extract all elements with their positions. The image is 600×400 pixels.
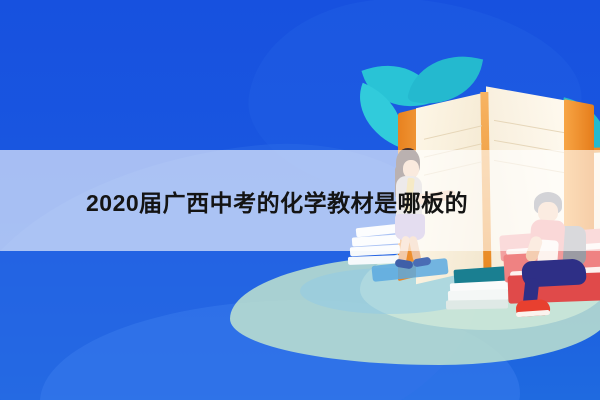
- page-canvas: 2020届广西中考的化学教材是哪板的: [0, 0, 600, 400]
- page-title: 2020届广西中考的化学教材是哪板的: [86, 150, 468, 251]
- book-page: [446, 299, 508, 309]
- shoe: [412, 256, 431, 267]
- sneaker-sole: [516, 310, 550, 317]
- shoe: [394, 258, 413, 269]
